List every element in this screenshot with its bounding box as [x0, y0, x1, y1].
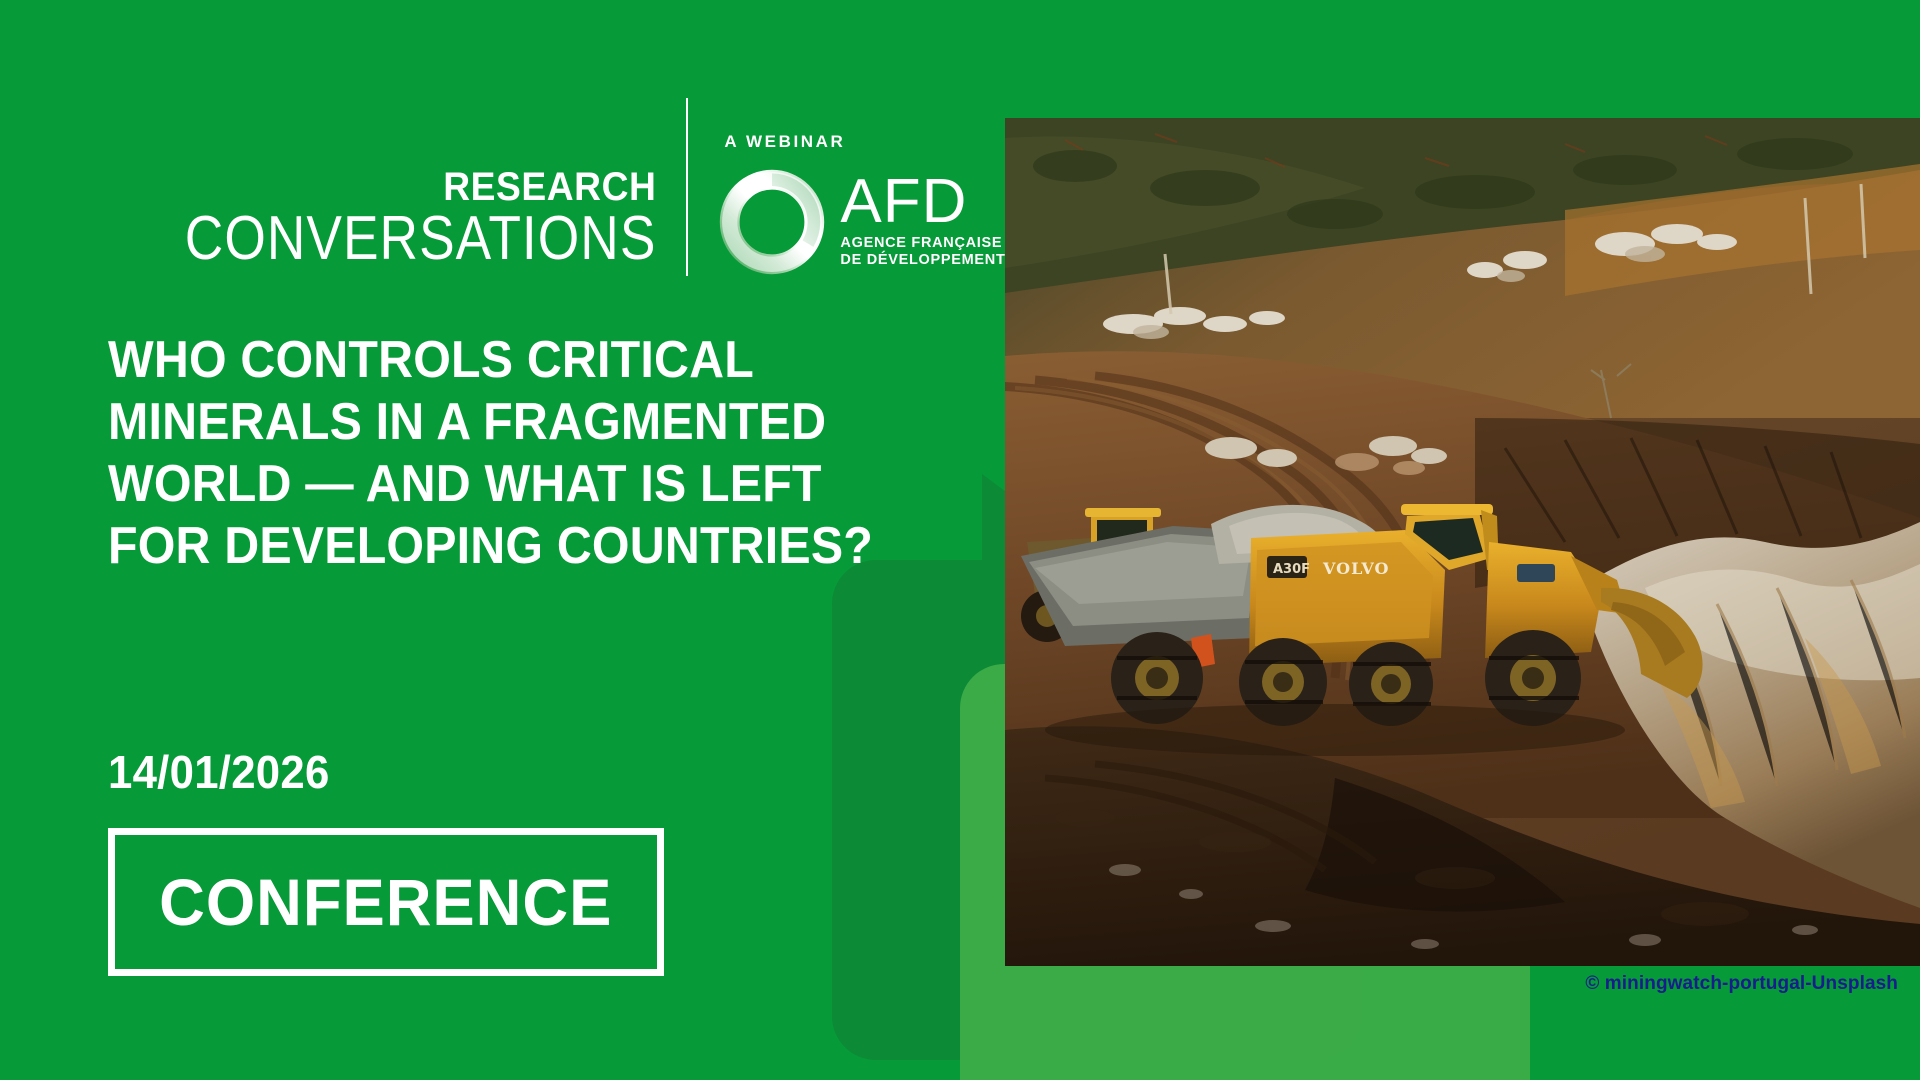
afd-lockup-block: A WEBINAR	[718, 118, 1005, 276]
afd-wordmark: AFD AGENCE FRANÇAISE DE DÉVELOPPEMENT	[840, 175, 1005, 269]
mine-photo-illustration: A30F VOLVO	[1005, 118, 1920, 966]
afd-ring-icon	[718, 168, 826, 276]
afd-tagline: AGENCE FRANÇAISE DE DÉVELOPPEMENT	[840, 235, 1005, 269]
photo-credit: © miningwatch-portugal-Unsplash	[1585, 973, 1898, 995]
brand-header: RESEARCH CONVERSATIONS A WEBINAR	[108, 82, 1006, 276]
svg-text:VOLVO: VOLVO	[1322, 559, 1390, 578]
series-lockup: RESEARCH CONVERSATIONS	[108, 168, 656, 276]
format-label: A WEBINAR	[724, 132, 1005, 152]
series-title: CONVERSATIONS	[185, 207, 657, 270]
hero-photo: A30F VOLVO	[1005, 118, 1920, 966]
afd-initials: AFD	[840, 175, 1005, 230]
afd-tagline-line2: DE DÉVELOPPEMENT	[840, 252, 1005, 269]
svg-text:A30F: A30F	[1273, 562, 1310, 577]
afd-tagline-line1: AGENCE FRANÇAISE	[840, 235, 1005, 252]
afd-logo: AFD AGENCE FRANÇAISE DE DÉVELOPPEMENT	[718, 168, 1005, 276]
event-headline: WHO CONTROLS CRITICAL MINERALS IN A FRAG…	[108, 330, 880, 578]
event-type-label: CONFERENCE	[115, 864, 612, 940]
vertical-divider	[686, 98, 688, 276]
event-date: 14/01/2026	[108, 745, 330, 799]
event-type-badge: CONFERENCE	[108, 828, 664, 976]
series-eyebrow: RESEARCH	[146, 168, 656, 207]
